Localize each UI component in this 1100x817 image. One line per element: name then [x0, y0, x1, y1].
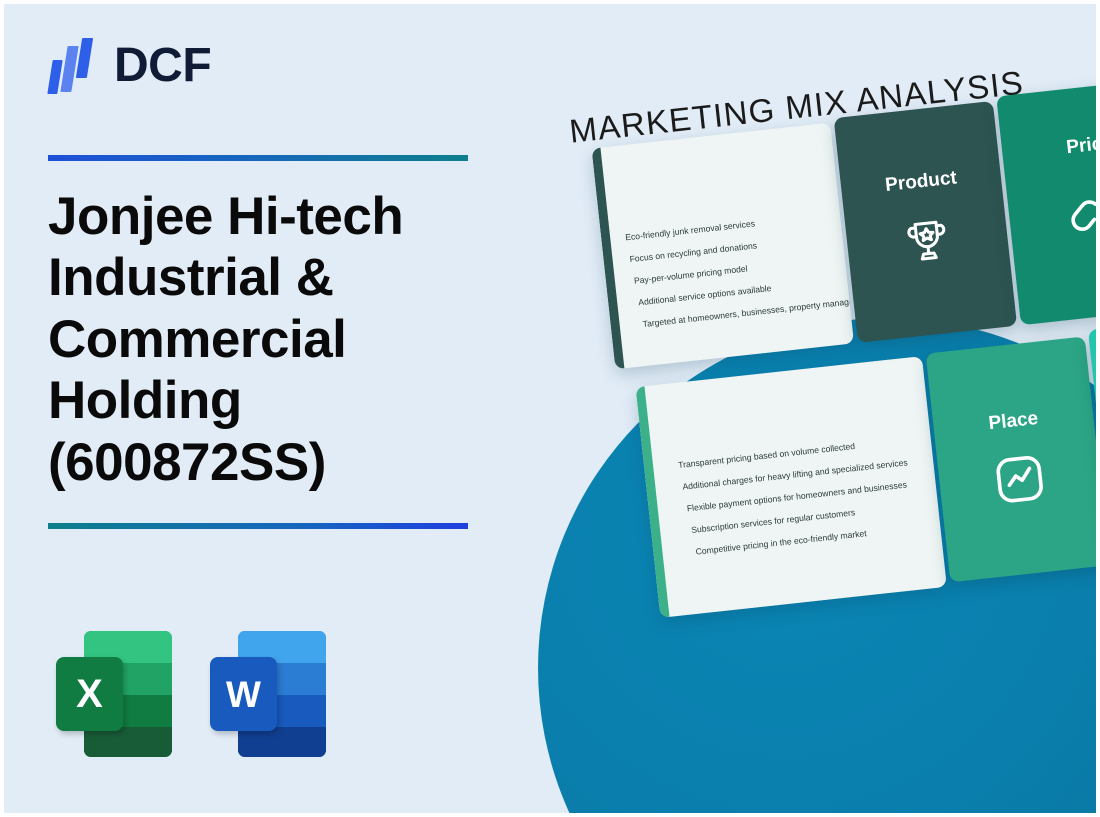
- excel-badge: X: [56, 657, 123, 731]
- tile-label-product: Product: [840, 163, 1001, 202]
- word-letter: W: [226, 676, 261, 713]
- product-bullets-panel: Eco-friendly junk removal services Focus…: [591, 123, 854, 370]
- page-title: Jonjee Hi-tech Industrial & Commercial H…: [48, 186, 488, 493]
- dcf-bars-logo: [48, 38, 100, 94]
- company-title: Jonjee Hi-tech Industrial & Commercial H…: [48, 186, 488, 493]
- list-item: Focus on recycling and donations: [629, 241, 757, 263]
- word-file-icon[interactable]: W: [210, 628, 328, 760]
- cover-canvas: MARKETING MIX ANALYSIS Eco-friendly junk…: [0, 0, 1100, 817]
- download-formats: X W: [56, 628, 328, 760]
- tile-place: Place: [926, 336, 1100, 582]
- tile-label-price: Price: [1001, 125, 1100, 166]
- divider-top: [48, 155, 468, 161]
- chart-square-icon: [988, 447, 1052, 511]
- list-item: Pay-per-volume pricing model: [634, 264, 748, 285]
- tile-label-place: Place: [933, 402, 1094, 441]
- tile-product: Product: [834, 101, 1017, 343]
- list-item: Eco-friendly junk removal services: [625, 219, 756, 242]
- left-panel: DCF Jonjee Hi-tech Industrial & Commerci…: [0, 0, 560, 817]
- list-item: Competitive pricing in the eco-friendly …: [695, 529, 867, 556]
- tile-label-promotion: Promotion: [1093, 359, 1100, 400]
- place-bullets-panel: Transparent pricing based on volume coll…: [636, 356, 947, 618]
- rotated-deck: MARKETING MIX ANALYSIS Eco-friendly junk…: [486, 0, 1100, 817]
- brand-logo[interactable]: DCF: [48, 38, 211, 94]
- brand-name: DCF: [114, 42, 211, 90]
- trophy-icon: [897, 210, 959, 272]
- excel-letter: X: [76, 674, 103, 714]
- panel-edge-accent: [636, 386, 670, 618]
- divider-bottom: [48, 523, 468, 529]
- list-item: Subscription services for regular custom…: [691, 508, 856, 534]
- list-item: Additional service options available: [638, 284, 772, 307]
- marketing-mix-graphic: MARKETING MIX ANALYSIS Eco-friendly junk…: [520, 0, 1100, 817]
- panel-edge-accent: [591, 148, 624, 370]
- link-chain-icon: [1064, 171, 1100, 235]
- word-badge: W: [210, 657, 277, 731]
- excel-file-icon[interactable]: X: [56, 628, 174, 760]
